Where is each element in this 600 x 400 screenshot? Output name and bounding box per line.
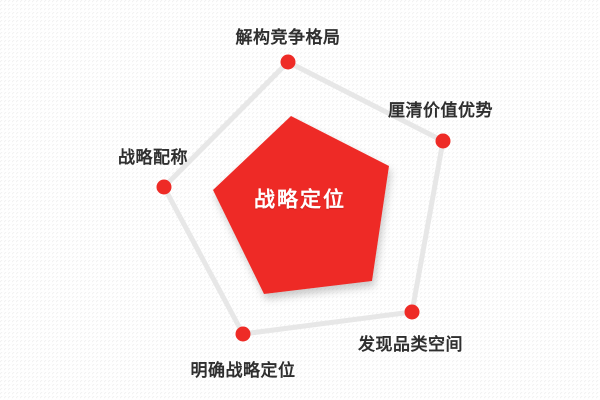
node-dot-right-top[interactable] (436, 134, 451, 149)
node-dot-right-bottom[interactable] (405, 305, 420, 320)
node-dot-bottom-left[interactable] (236, 327, 251, 342)
node-dot-top[interactable] (281, 55, 296, 70)
diagram-canvas: 解构竞争格局 厘清价值优势 发现品类空间 明确战略定位 战略配称 战略定位 (0, 0, 600, 400)
node-label-right-bottom: 发现品类空间 (358, 337, 463, 354)
node-label-left: 战略配称 (118, 150, 188, 167)
node-label-right-top: 厘清价值优势 (388, 103, 493, 120)
node-label-top: 解构竞争格局 (236, 30, 341, 47)
center-pentagon-label: 战略定位 (254, 190, 346, 211)
node-label-bottom-left: 明确战略定位 (191, 363, 296, 380)
node-dot-left[interactable] (157, 180, 172, 195)
